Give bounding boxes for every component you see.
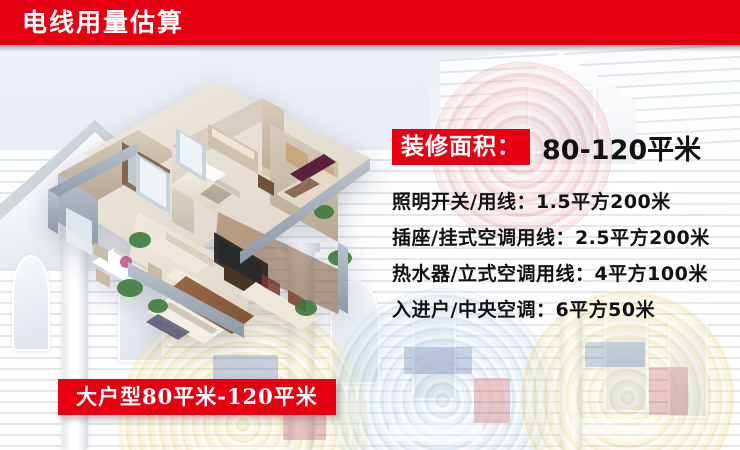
wire-spec-item: 插座/挂式空调用线：2.5平方200米	[392, 220, 736, 256]
wire-spec-item: 热水器/立式空调用线：4平方100米	[392, 256, 736, 292]
wire-spec-list: 照明开关/用线：1.5平方200米 插座/挂式空调用线：2.5平方200米 热水…	[392, 184, 736, 328]
floorplan-3d-render	[18, 62, 398, 347]
decoration-area-row: 装修面积： 80-120平米	[392, 128, 736, 166]
page-title: 电线用量估算	[22, 6, 184, 39]
header-banner: 电线用量估算	[0, 0, 740, 45]
wire-spec-item: 入进户/中央空调：6平方50米	[392, 292, 736, 328]
decoration-area-value: 80-120平米	[542, 128, 701, 167]
info-panel: 装修面积： 80-120平米 照明开关/用线：1.5平方200米 插座/挂式空调…	[392, 128, 736, 328]
wire-spec-item: 照明开关/用线：1.5平方200米	[392, 184, 736, 220]
poster-canvas: 电线用量估算 装修面积： 80-120平米 照明开关/用线：1.5平方200米 …	[0, 0, 740, 450]
floorplan-caption: 大户型80平米-120平米	[58, 379, 336, 415]
decoration-area-label: 装修面积：	[392, 129, 530, 165]
